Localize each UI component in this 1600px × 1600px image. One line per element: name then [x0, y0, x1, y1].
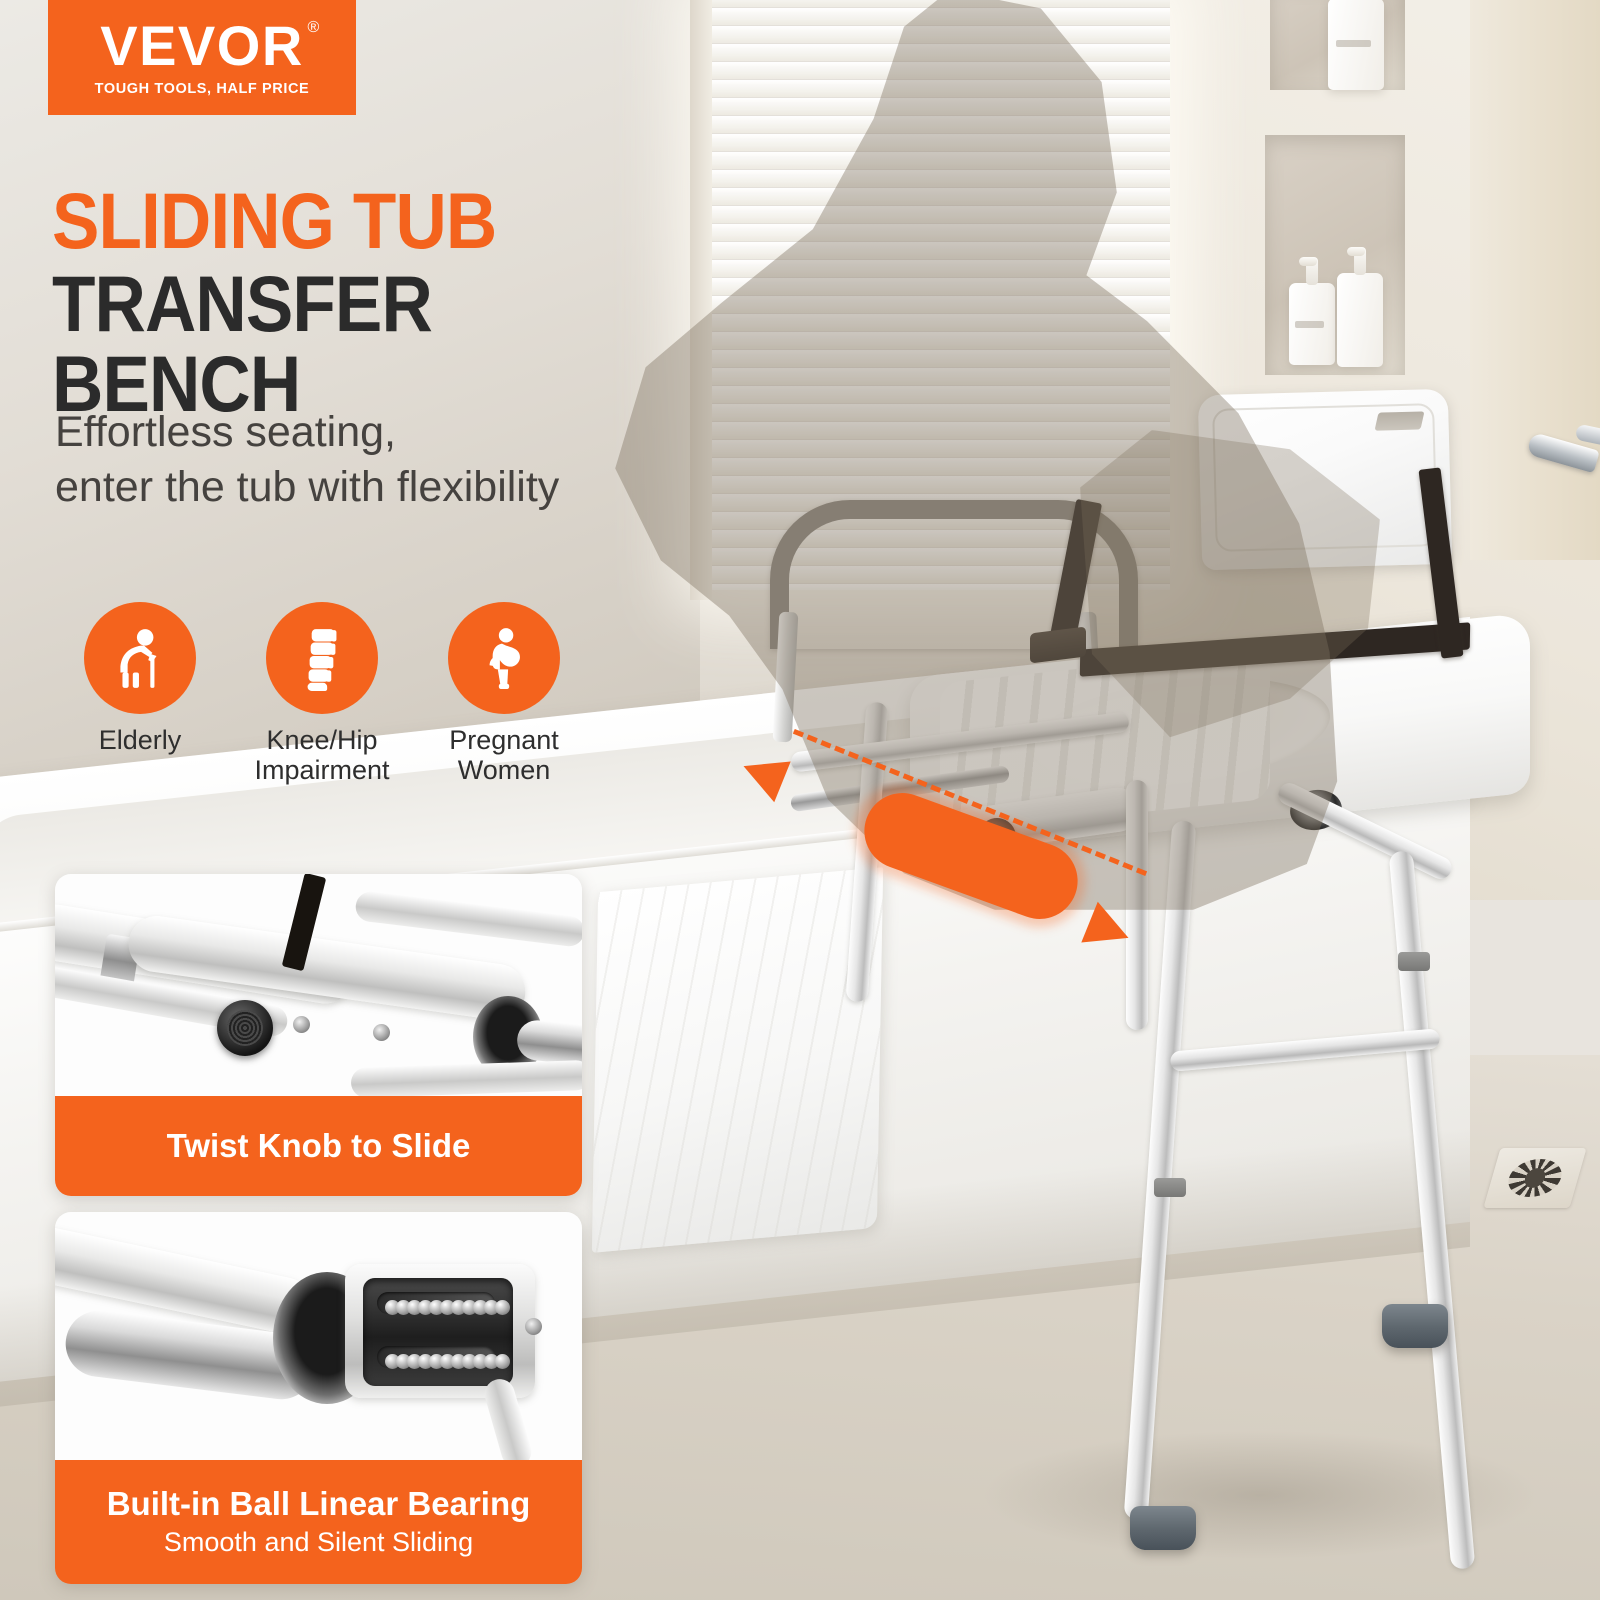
- elderly-person-with-cane-icon: [107, 625, 173, 691]
- brand-tagline: TOUGH TOOLS, HALF PRICE: [95, 81, 310, 97]
- subheadline: Effortless seating, enter the tub with f…: [55, 405, 715, 515]
- badge-pregnant: Pregnant Women: [430, 602, 578, 785]
- badge-circle: [84, 602, 196, 714]
- bearing-ball: [495, 1300, 510, 1315]
- pump-bottle: [1328, 0, 1384, 90]
- audience-badges: Elderly Knee/Hip Impairment: [66, 602, 578, 785]
- pregnant-woman-icon: [471, 625, 537, 691]
- photo-tube-right: [354, 890, 582, 948]
- badge-knee-hip: Knee/Hip Impairment: [248, 602, 396, 785]
- badge-label-line-1: Elderly: [99, 725, 182, 755]
- wall-niche-upper: [1270, 0, 1405, 90]
- product-marketing-image: VEVOR® TOUGH TOOLS, HALF PRICE SLIDING T…: [0, 0, 1600, 1600]
- feature-photo-twist-knob: [55, 874, 582, 1096]
- slide-arrow-left-icon: [735, 746, 790, 803]
- badge-circle: [266, 602, 378, 714]
- slide-arrow-right-icon: [1081, 902, 1136, 959]
- subheadline-line-2: enter the tub with flexibility: [55, 460, 715, 515]
- feature-caption-ball-bearing: Built-in Ball Linear Bearing Smooth and …: [55, 1460, 582, 1584]
- faucet-cap: [1575, 424, 1600, 447]
- photo-screw-pin: [293, 1016, 310, 1033]
- bottle-pump: [1354, 247, 1366, 275]
- page-title: SLIDING TUB TRANSFER BENCH: [52, 185, 752, 425]
- bottle-pump: [1306, 257, 1318, 285]
- pump-bottle: [1289, 283, 1335, 365]
- leg-adjust-collar-left: [1154, 1178, 1186, 1197]
- badge-circle: [448, 602, 560, 714]
- chrome-faucet: [1520, 425, 1598, 483]
- pump-bottle: [1337, 273, 1383, 367]
- feature-caption-twist-knob: Twist Knob to Slide: [55, 1096, 582, 1196]
- subheadline-line-1: Effortless seating,: [55, 405, 715, 460]
- bearing-ball: [495, 1354, 510, 1369]
- caption-main: Built-in Ball Linear Bearing: [107, 1486, 531, 1523]
- badge-label-line-2: Impairment: [254, 755, 389, 785]
- slide-direction-indicator: [720, 730, 1180, 980]
- registered-mark: ®: [307, 20, 320, 36]
- brand-name: VEVOR®: [100, 18, 304, 74]
- badge-label: Pregnant Women: [449, 725, 559, 785]
- feature-panel-twist-knob: Twist Knob to Slide: [55, 874, 582, 1196]
- photo-frame-bar: [351, 1060, 582, 1096]
- badge-label: Knee/Hip Impairment: [254, 725, 389, 785]
- badge-label: Elderly: [99, 725, 182, 755]
- leg-adjust-collar-right: [1398, 952, 1430, 971]
- feature-photo-ball-bearing: [55, 1212, 582, 1460]
- bottle-label: [1336, 40, 1371, 47]
- badge-label-line-1: Pregnant: [449, 725, 559, 755]
- rubber-foot-right: [1382, 1304, 1448, 1348]
- badge-elderly: Elderly: [66, 602, 214, 785]
- photo-set-screw: [525, 1318, 542, 1335]
- headline-line-2: TRANSFER BENCH: [52, 264, 682, 425]
- bottle-label: [1295, 321, 1324, 328]
- caption-sub: Smooth and Silent Sliding: [164, 1527, 473, 1558]
- rubber-foot-left: [1130, 1506, 1196, 1550]
- photo-screw: [373, 1024, 390, 1041]
- wall-niche-lower: [1265, 135, 1405, 375]
- feature-panel-ball-bearing: Built-in Ball Linear Bearing Smooth and …: [55, 1212, 582, 1584]
- backrest-grip-slot: [1374, 411, 1424, 430]
- spine-vertebrae-icon: [289, 625, 355, 691]
- bench-crossbar-lower: [1170, 1028, 1441, 1071]
- vevor-logo: VEVOR® TOUGH TOOLS, HALF PRICE: [48, 0, 356, 115]
- badge-label-line-1: Knee/Hip: [254, 725, 389, 755]
- headline-line-1: SLIDING TUB: [52, 185, 682, 258]
- badge-label-line-2: Women: [449, 755, 559, 785]
- caption-main: Twist Knob to Slide: [167, 1128, 471, 1165]
- photo-twist-knob: [217, 1000, 273, 1056]
